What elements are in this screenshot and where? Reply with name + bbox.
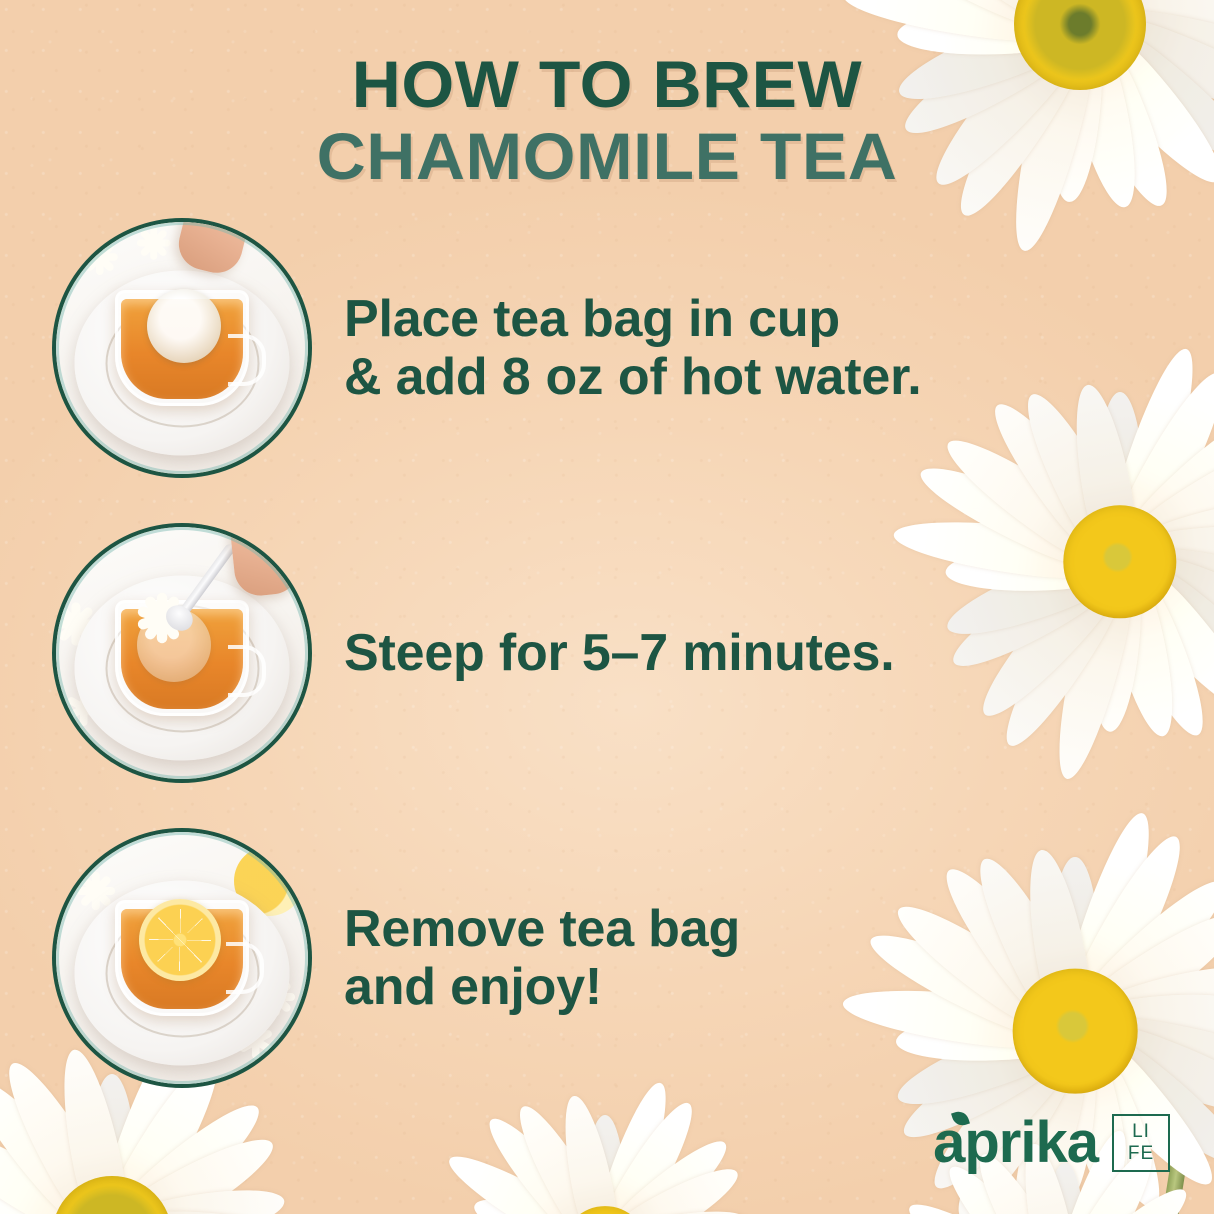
step-3-line-1: Remove tea bag [344,900,740,958]
steeping-tea-with-spoon-photo [56,527,308,779]
photo-daisy [236,1022,275,1061]
title-line-2: CHAMOMILE TEA [0,122,1214,190]
daisy-center [1013,969,1138,1094]
step-1-amount: 8 oz [502,348,604,406]
photo-daisy [64,689,103,728]
step-2-line-1: Steep for 5–7 minutes. [344,624,894,682]
lemon-wedge-icon [234,846,304,916]
step-1-line-2: & add 8 oz of hot water. [344,348,922,406]
photo-daisy [135,225,171,261]
photo-daisy-floating [134,591,189,646]
lemon-slice-icon [139,899,221,981]
photo-daisy [80,238,119,277]
poster-canvas: HOW TO BREW CHAMOMILE TEA [0,0,1214,1214]
step-2-text: Steep for 5–7 minutes. [344,624,894,682]
tea-with-lemon-slice-photo [56,832,308,1084]
title-line-1: HOW TO BREW [0,52,1214,116]
photo-daisy [254,976,296,1018]
photo-daisy [74,870,116,912]
logo-badge-line-1: LI [1114,1121,1168,1143]
daisy-bottom-center-icon [440,1084,770,1214]
step-1: Place tea bag in cup & add 8 oz of hot w… [56,222,922,474]
tea-bag-in-cup-photo [56,222,308,474]
logo-badge-line-2: FE [1114,1143,1168,1165]
brand-logo[interactable]: aprika LI FE [933,1114,1170,1172]
step-3-line-2: and enjoy! [344,958,740,1016]
photo-daisy [56,601,98,648]
step-1-line-2a: & add [344,348,502,406]
daisy-right-upper-icon [910,352,1214,772]
step-3: Remove tea bag and enjoy! [56,832,740,1084]
daisy-center [1063,505,1176,618]
page-title: HOW TO BREW CHAMOMILE TEA [0,52,1214,190]
step-1-line-2b: of hot water. [604,348,922,406]
logo-life-badge: LI FE [1112,1114,1170,1172]
spoon-icon [178,542,237,617]
step-1-line-1: Place tea bag in cup [344,290,922,348]
logo-wordmark: aprika [933,1114,1098,1172]
step-1-text: Place tea bag in cup & add 8 oz of hot w… [344,290,922,406]
step-2: Steep for 5–7 minutes. [56,527,894,779]
daisy-petals [440,1084,770,1214]
step-3-text: Remove tea bag and enjoy! [344,900,740,1016]
